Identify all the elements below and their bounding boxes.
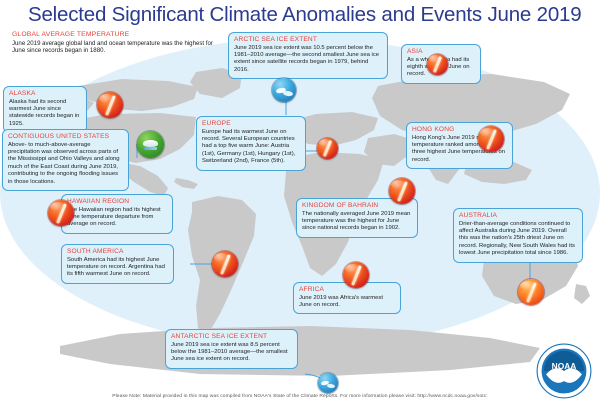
callout-body: Drier-than-average conditions continued … — [459, 221, 577, 258]
marker-precipitation-contiguous-us[interactable] — [137, 131, 164, 158]
marker-precipitation-australia[interactable] — [518, 279, 544, 305]
callout-heading: ALASKA — [9, 90, 81, 98]
callout-body: The nationally averaged June 2019 mean t… — [302, 211, 412, 233]
callout-body: Europe had its warmest June on record. S… — [202, 129, 300, 166]
callout-heading: AFRICA — [299, 286, 395, 294]
marker-temperature-europe[interactable] — [317, 138, 338, 159]
callout-body: The Hawaiian region had its highest June… — [67, 207, 167, 229]
callout-body: June 2019 sea ice extent was 8.5 percent… — [171, 342, 292, 364]
marker-temperature-south-america[interactable] — [212, 251, 238, 277]
marker-temperature-bahrain[interactable] — [389, 178, 415, 204]
callout-heading: HAWAIIAN REGION — [67, 198, 167, 206]
callout-australia[interactable]: AUSTRALIA Drier-than-average conditions … — [453, 208, 583, 263]
footer-note: Please Note: Material provided in this m… — [0, 394, 600, 399]
world-map-stage: GLOBAL AVERAGE TEMPERATURE June 2019 ave… — [0, 26, 600, 381]
callout-south-america[interactable]: SOUTH AMERICA South America had its high… — [61, 244, 174, 284]
callout-heading: EUROPE — [202, 120, 300, 128]
noaa-logo-text: NOAA — [552, 361, 577, 371]
callout-hawaiian-region[interactable]: HAWAIIAN REGION The Hawaiian region had … — [61, 194, 173, 234]
callout-heading: GLOBAL AVERAGE TEMPERATURE — [12, 31, 217, 39]
marker-sea-ice-arctic[interactable] — [272, 78, 296, 102]
marker-temperature-hawaii[interactable] — [48, 200, 74, 226]
callout-arctic-sea-ice-extent[interactable]: ARCTIC SEA ICE EXTENT June 2019 sea ice … — [228, 32, 388, 79]
callout-heading: SOUTH AMERICA — [67, 248, 168, 256]
callout-contiguous-united-states[interactable]: CONTIGUOUS UNITED STATES Above- to much-… — [2, 129, 129, 191]
callout-body: Above- to much-above-average precipitati… — [8, 142, 123, 186]
callout-heading: ANTARCTIC SEA ICE EXTENT — [171, 333, 292, 341]
callout-alaska[interactable]: ALASKA Alaska had its second warmest Jun… — [3, 86, 87, 133]
callout-body: South America had its highest June tempe… — [67, 257, 168, 279]
climate-anomalies-map-page: Selected Significant Climate Anomalies a… — [0, 0, 600, 405]
noaa-logo-icon: NOAA — [536, 343, 592, 399]
callout-body: June 2019 sea ice extent was 10.5 percen… — [234, 45, 382, 75]
callout-body: June 2019 was Africa's warmest June on r… — [299, 295, 395, 310]
marker-temperature-africa[interactable] — [343, 262, 369, 288]
callout-heading: CONTIGUOUS UNITED STATES — [8, 133, 123, 141]
page-title: Selected Significant Climate Anomalies a… — [28, 3, 581, 27]
marker-sea-ice-antarctic[interactable] — [318, 373, 338, 393]
callout-heading: KINGDOM OF BAHRAIN — [302, 202, 412, 210]
callout-body: Alaska had its second warmest June since… — [9, 99, 81, 129]
callout-global-average-temperature[interactable]: GLOBAL AVERAGE TEMPERATURE June 2019 ave… — [12, 31, 217, 55]
callout-heading: ARCTIC SEA ICE EXTENT — [234, 36, 382, 44]
callout-africa[interactable]: AFRICA June 2019 was Africa's warmest Ju… — [293, 282, 401, 314]
callout-kingdom-of-bahrain[interactable]: KINGDOM OF BAHRAIN The nationally averag… — [296, 198, 418, 238]
callout-antarctic-sea-ice-extent[interactable]: ANTARCTIC SEA ICE EXTENT June 2019 sea i… — [165, 329, 298, 369]
marker-temperature-asia[interactable] — [427, 54, 448, 75]
callout-body: June 2019 average global land and ocean … — [12, 40, 217, 56]
callout-europe[interactable]: EUROPE Europe had its warmest June on re… — [196, 116, 306, 171]
callout-heading: AUSTRALIA — [459, 212, 577, 220]
marker-temperature-hong-kong[interactable] — [478, 126, 504, 152]
marker-temperature-alaska[interactable] — [97, 92, 123, 118]
